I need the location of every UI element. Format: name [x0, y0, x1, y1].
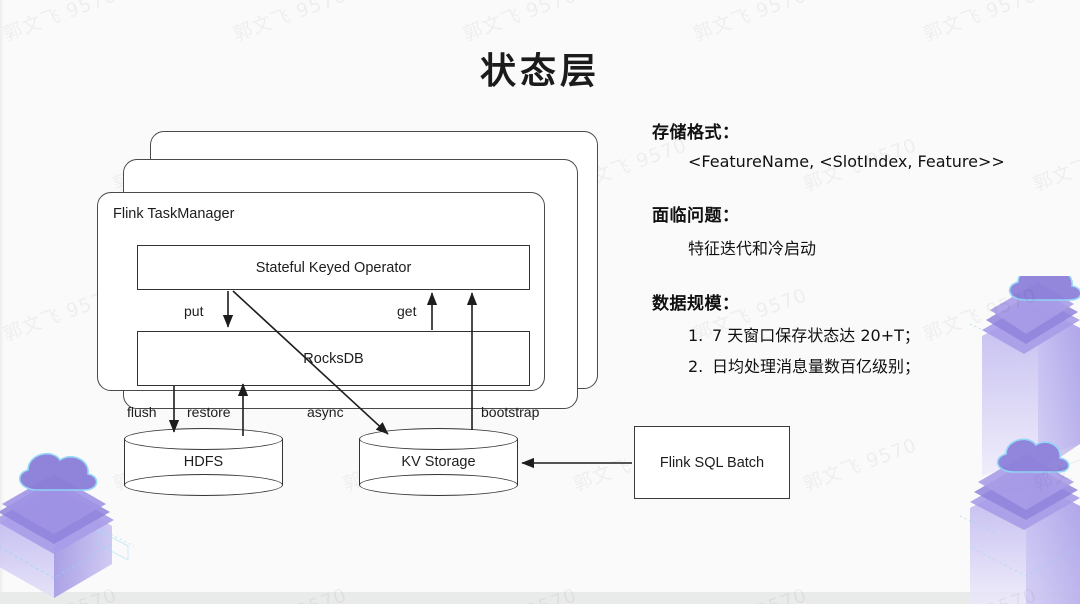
kv-storage-cylinder: KV Storage [359, 428, 518, 496]
panel-gap-1 [652, 171, 1052, 201]
list-item-number: 2. [688, 357, 712, 376]
data-scale-list: 1.7 天窗口保存状态达 20+T； 2.日均处理消息量数百亿级别； [652, 322, 1052, 377]
storage-format-value: <FeatureName, <SlotIndex, Feature>> [688, 152, 1052, 171]
page-title: 状态层 [0, 42, 1080, 94]
list-item-number: 1. [688, 326, 712, 345]
list-item: 1.7 天窗口保存状态达 20+T； [688, 322, 1052, 346]
slide-canvas: 状态层 Flink TaskManager Stateful Keyed Ope… [0, 0, 1080, 604]
problems-value: 特征迭代和冷启动 [688, 235, 1052, 259]
list-item-text: 7 天窗口保存状态达 20+T； [712, 326, 920, 345]
hdfs-cylinder: HDFS [124, 428, 283, 496]
stateful-keyed-operator-box: Stateful Keyed Operator [137, 245, 530, 290]
arrow-label-get: get [397, 303, 416, 319]
arrow-label-async: async [307, 404, 344, 420]
hdfs-label: HDFS [124, 428, 283, 496]
info-panel: 存储格式： <FeatureName, <SlotIndex, Feature>… [652, 118, 1052, 384]
list-item-text: 日均处理消息量数百亿级别； [712, 357, 920, 376]
panel-gap-2 [652, 259, 1052, 289]
arrow-label-put: put [184, 303, 203, 319]
taskmanager-label: Flink TaskManager [113, 206, 234, 222]
problems-heading: 面临问题： [652, 201, 1052, 226]
arrow-label-flush: flush [127, 404, 157, 420]
flink-sql-batch-box: Flink SQL Batch [634, 426, 790, 499]
arrow-label-bootstrap: bootstrap [481, 404, 539, 420]
list-item: 2.日均处理消息量数百亿级别； [688, 353, 1052, 377]
rocksdb-box: RocksDB [137, 331, 530, 386]
arrow-label-restore: restore [187, 404, 231, 420]
kv-storage-label: KV Storage [359, 428, 518, 496]
data-scale-heading: 数据规模： [652, 289, 1052, 314]
storage-format-heading: 存储格式： [652, 118, 1052, 143]
